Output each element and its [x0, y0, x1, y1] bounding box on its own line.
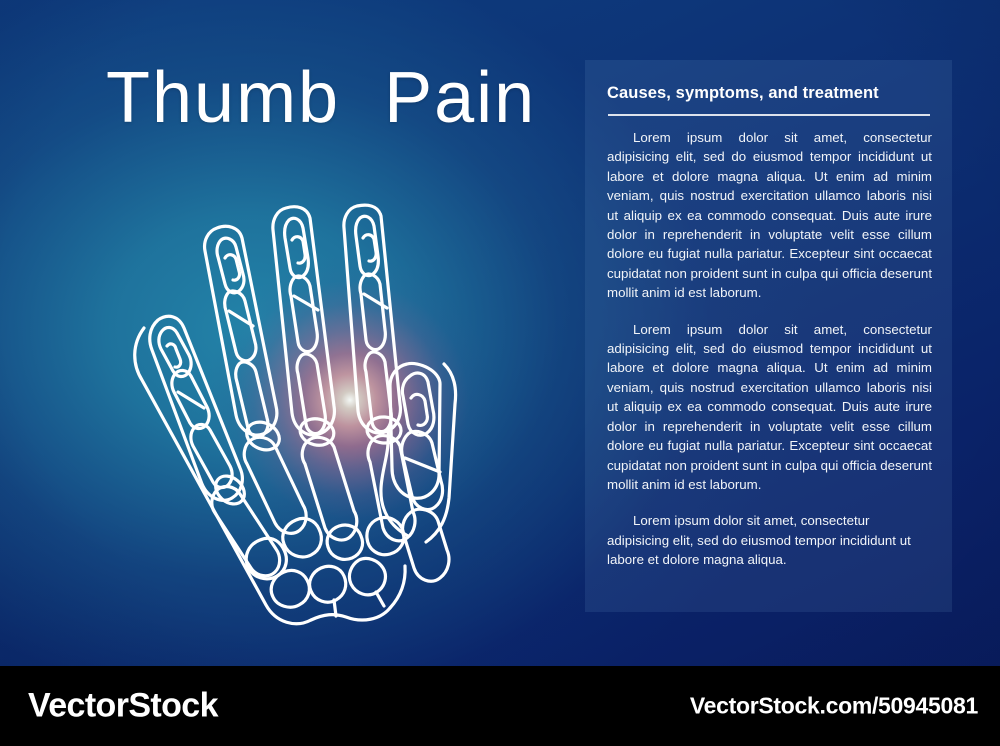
panel-divider	[608, 114, 930, 116]
panel-heading: Causes, symptoms, and treatment	[607, 84, 931, 103]
panel-body: Lorem ipsum dolor sit amet, consectetur …	[607, 128, 932, 570]
watermark-footer: VectorStock VectorStock.com/50945081	[0, 666, 1000, 746]
body-paragraph: Lorem ipsum dolor sit amet, consectetur …	[607, 128, 932, 303]
poster-artwork: Thumb Pain	[0, 0, 1000, 666]
screenshot-stage: Thumb Pain	[0, 0, 1000, 746]
vectorstock-url: VectorStock.com/50945081	[690, 693, 978, 720]
body-paragraph: Lorem ipsum dolor sit amet, consectetur …	[607, 511, 932, 569]
vectorstock-logo: VectorStock	[28, 687, 218, 726]
hand-skeleton-svg	[118, 168, 458, 598]
page-title: Thumb Pain	[106, 62, 536, 134]
info-panel: Causes, symptoms, and treatment Lorem ip…	[585, 60, 952, 612]
hand-skeleton-illustration	[118, 168, 458, 598]
body-paragraph: Lorem ipsum dolor sit amet, consectetur …	[607, 320, 932, 495]
